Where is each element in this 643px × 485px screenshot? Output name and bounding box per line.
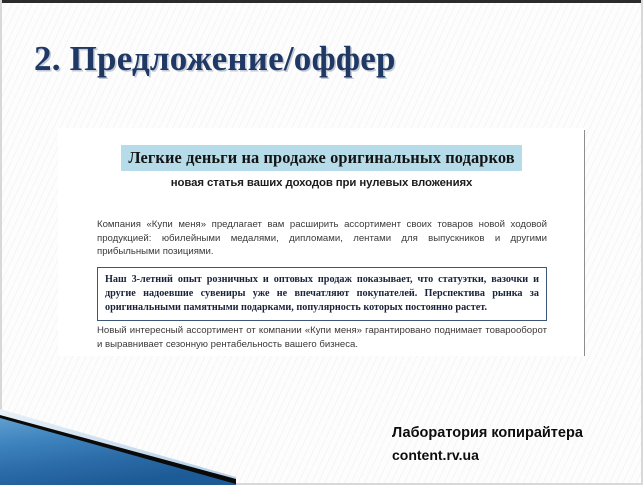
document-preview-panel: Легкие деньги на продаже оригинальных по…: [58, 128, 585, 356]
footer-credit: Лаборатория копирайтера content.rv.ua: [392, 422, 583, 466]
slide-title: 2. Предложение/оффер: [34, 38, 396, 80]
footer-website: content.rv.ua: [392, 444, 583, 466]
footer-brand-name: Лаборатория копирайтера: [392, 422, 583, 444]
document-highlight-box: Наш 3-летний опыт розничных и оптовых пр…: [97, 267, 547, 321]
document-boxed-paragraph: Наш 3-летний опыт розничных и оптовых пр…: [105, 273, 539, 315]
document-content: Легкие деньги на продаже оригинальных по…: [58, 128, 585, 356]
document-headline: Легкие деньги на продаже оригинальных по…: [121, 145, 521, 171]
document-paragraph-1: Компания «Купи меня» предлагает вам расш…: [97, 218, 547, 259]
document-headline-container: Легкие деньги на продаже оригинальных по…: [58, 145, 585, 171]
decorative-corner-graphic: [0, 403, 236, 485]
document-subheadline: новая статья ваших доходов при нулевых в…: [58, 176, 585, 191]
document-panel-right-rule: [584, 130, 585, 356]
document-paragraph-2: Новый интересный ассортимент от компании…: [97, 324, 547, 351]
presentation-slide: 2. Предложение/оффер Легкие деньги на пр…: [0, 0, 643, 485]
slide-top-border: [0, 0, 643, 3]
decor-blue-wedge: [0, 418, 236, 485]
